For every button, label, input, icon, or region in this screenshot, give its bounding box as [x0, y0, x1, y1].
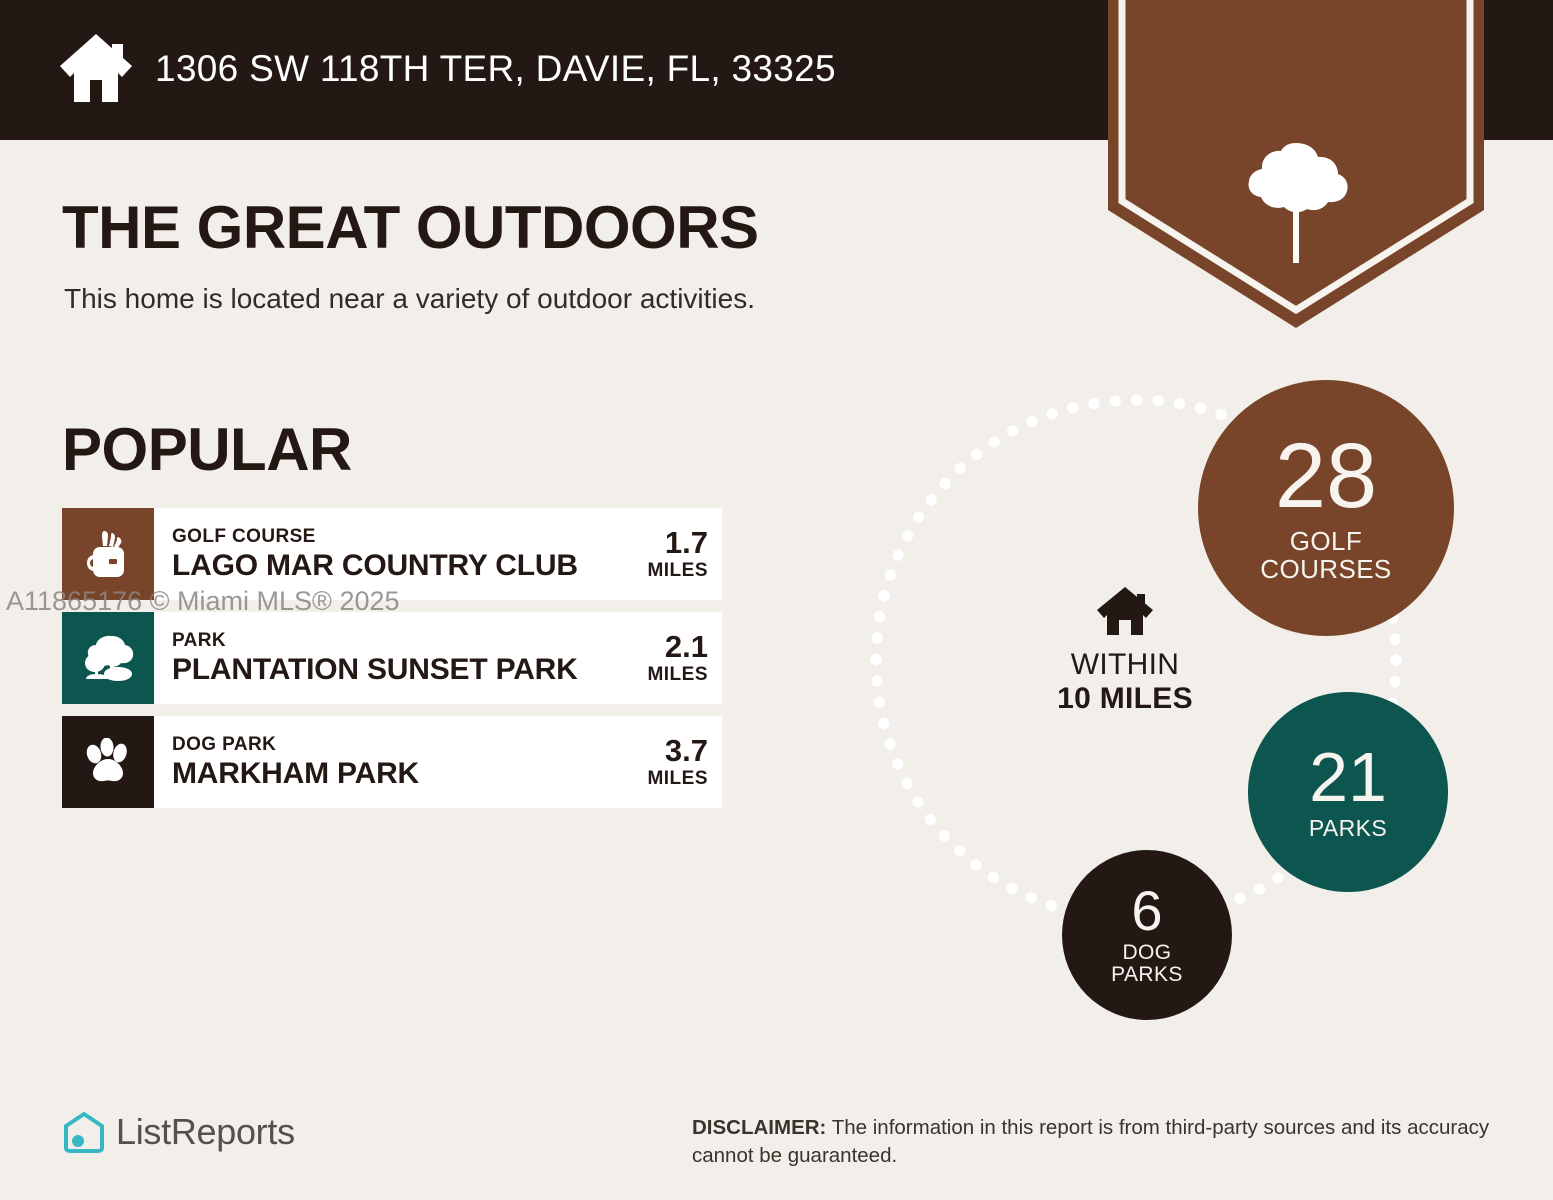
count-label-line2: COURSES — [1260, 556, 1391, 583]
paw-print-icon — [83, 738, 133, 786]
count-label-line1: PARKS — [1309, 816, 1387, 840]
list-item-icon-tile — [62, 508, 154, 600]
list-item[interactable]: DOG PARK MARKHAM PARK 3.7 MILES — [62, 716, 722, 808]
listreports-wordmark: ListReports — [116, 1111, 295, 1153]
count-value: 6 — [1131, 884, 1162, 937]
count-value: 28 — [1275, 433, 1377, 520]
list-item-distance: 2.1 MILES — [596, 612, 722, 704]
radius-center-label: WITHIN 10 MILES — [1000, 585, 1250, 715]
radius-miles-text: 10 MILES — [1000, 682, 1250, 716]
page-title: THE GREAT OUTDOORS — [62, 193, 759, 262]
list-item[interactable]: GOLF COURSE LAGO MAR COUNTRY CLUB 1.7 MI… — [62, 508, 722, 600]
distance-unit: MILES — [647, 768, 708, 790]
count-value: 21 — [1309, 744, 1387, 811]
golf-bag-icon — [85, 529, 131, 579]
home-icon — [1095, 585, 1155, 637]
property-address: 1306 SW 118TH TER, DAVIE, FL, 33325 — [155, 48, 836, 90]
list-item-name: MARKHAM PARK — [172, 758, 596, 790]
popular-list: GOLF COURSE LAGO MAR COUNTRY CLUB 1.7 MI… — [62, 508, 722, 820]
outdoor-report-badge — [1108, 0, 1484, 328]
list-item-name: PLANTATION SUNSET PARK — [172, 654, 596, 686]
distance-value: 3.7 — [665, 735, 708, 766]
page-subtitle: This home is located near a variety of o… — [64, 283, 755, 315]
list-item-distance: 1.7 MILES — [596, 508, 722, 600]
count-label: PARKS — [1309, 816, 1387, 840]
popular-section-title: POPULAR — [62, 415, 352, 484]
list-item-category: GOLF COURSE — [172, 527, 596, 548]
distance-value: 2.1 — [665, 631, 708, 662]
park-tree-icon — [82, 634, 134, 682]
list-item-icon-tile — [62, 716, 154, 808]
disclaimer: DISCLAIMER: The information in this repo… — [692, 1114, 1502, 1171]
outdoor-report-page: 1306 SW 118TH TER, DAVIE, FL, 33325 THE … — [0, 0, 1553, 1200]
count-label-line1: GOLF — [1260, 528, 1391, 555]
list-item-text: DOG PARK MARKHAM PARK — [154, 716, 596, 808]
home-icon — [58, 32, 134, 104]
radius-within-text: WITHIN — [1000, 648, 1250, 682]
listreports-house-icon — [62, 1110, 106, 1154]
count-bubble-dog-parks[interactable]: 6 DOG PARKS — [1062, 850, 1232, 1020]
list-item-distance: 3.7 MILES — [596, 716, 722, 808]
count-label-line1: DOG — [1111, 942, 1183, 964]
count-bubble-parks[interactable]: 21 PARKS — [1248, 692, 1448, 892]
list-item-text: PARK PLANTATION SUNSET PARK — [154, 612, 596, 704]
distance-unit: MILES — [647, 560, 708, 582]
count-label-line2: PARKS — [1111, 964, 1183, 986]
list-item-icon-tile — [62, 612, 154, 704]
count-label: DOG PARKS — [1111, 942, 1183, 986]
distance-unit: MILES — [647, 664, 708, 686]
list-item-name: LAGO MAR COUNTRY CLUB — [172, 550, 596, 582]
list-item-text: GOLF COURSE LAGO MAR COUNTRY CLUB — [154, 508, 596, 600]
disclaimer-label: DISCLAIMER: — [692, 1116, 826, 1139]
list-item-category: DOG PARK — [172, 735, 596, 756]
distance-value: 1.7 — [665, 527, 708, 558]
list-item-category: PARK — [172, 631, 596, 652]
count-label: GOLF COURSES — [1260, 528, 1391, 583]
radius-infographic: WITHIN 10 MILES 28 GOLF COURSES 21 PARKS… — [820, 360, 1500, 1040]
list-item[interactable]: PARK PLANTATION SUNSET PARK 2.1 MILES — [62, 612, 722, 704]
listreports-logo[interactable]: ListReports — [62, 1110, 295, 1154]
count-bubble-golf-courses[interactable]: 28 GOLF COURSES — [1198, 380, 1454, 636]
